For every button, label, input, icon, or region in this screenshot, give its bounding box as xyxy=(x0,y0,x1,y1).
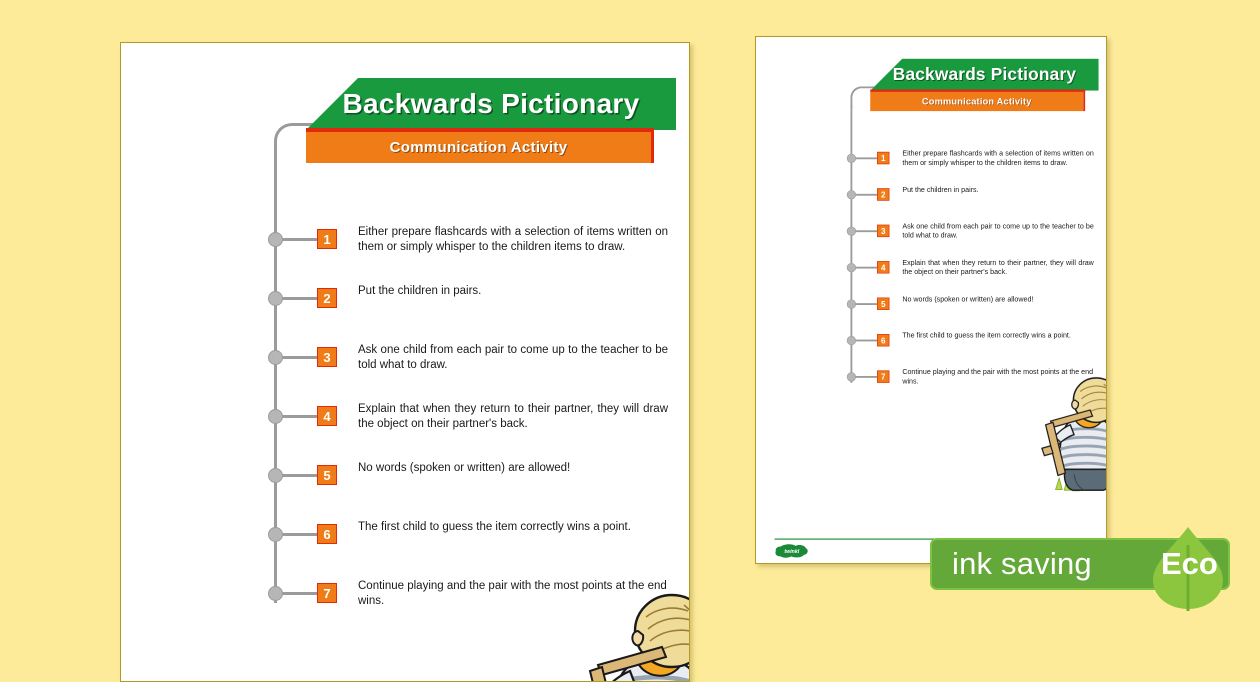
timeline-connector xyxy=(855,340,877,342)
timeline-connector xyxy=(282,415,318,418)
eco-label: ink saving xyxy=(952,538,1092,590)
step-text: The first child to guess the item correc… xyxy=(902,332,1093,341)
step-text: Either prepare flashcards with a selecti… xyxy=(902,149,1093,167)
step-number-badge: 5 xyxy=(317,465,337,485)
banner-red-accent-right xyxy=(651,128,654,163)
step-number-badge: 3 xyxy=(317,347,337,367)
worksheet-document-preview: Backwards Pictionary Communication Activ… xyxy=(756,37,1107,432)
timeline-dot xyxy=(268,586,283,601)
list-item: 5 No words (spoken or written) are allow… xyxy=(121,429,690,488)
list-item: 4 Explain that when they return to their… xyxy=(121,370,690,429)
steps-list: 1 Either prepare flashcards with a selec… xyxy=(756,130,1107,385)
step-text: Ask one child from each pair to come up … xyxy=(902,222,1093,240)
timeline-connector xyxy=(855,267,877,269)
twinkl-logo[interactable]: twinkl xyxy=(775,543,810,559)
worksheet-page-large[interactable]: Backwards Pictionary Communication Activ… xyxy=(120,42,690,682)
step-number-badge: 4 xyxy=(877,261,889,273)
timeline-connector xyxy=(855,230,877,232)
svg-text:twinkl: twinkl xyxy=(784,549,799,555)
timeline-connector xyxy=(282,238,318,241)
timeline-connector xyxy=(282,533,318,536)
timeline-connector xyxy=(855,194,877,196)
step-text: Put the children in pairs. xyxy=(902,186,1093,195)
timeline-dot xyxy=(268,468,283,483)
timeline-connector xyxy=(282,356,318,359)
step-number-badge: 1 xyxy=(317,229,337,249)
step-number-badge: 6 xyxy=(317,524,337,544)
banner-red-accent-right xyxy=(1083,89,1085,111)
list-item: 6 The first child to guess the item corr… xyxy=(121,488,690,547)
step-number-badge: 7 xyxy=(877,370,889,382)
page-subtitle: Communication Activity xyxy=(870,92,1083,111)
timeline-dot xyxy=(268,527,283,542)
page-subtitle: Communication Activity xyxy=(306,132,651,163)
steps-list: 1 Either prepare flashcards with a selec… xyxy=(121,193,690,606)
step-text: Either prepare flashcards with a selecti… xyxy=(358,225,668,254)
step-number-badge: 1 xyxy=(877,152,889,164)
step-text: Explain that when they return to their p… xyxy=(358,402,668,431)
header-banner-group: Backwards Pictionary Communication Activ… xyxy=(306,78,676,163)
list-item: 5 No words (spoken or written) are allow… xyxy=(756,275,1107,311)
boy-drawing-illustration xyxy=(1037,375,1107,499)
timeline-elbow xyxy=(274,123,308,157)
eco-leaf-label: Eco xyxy=(1161,538,1217,590)
step-text: Put the children in pairs. xyxy=(358,284,668,299)
timeline-dot xyxy=(268,232,283,247)
timeline-dot xyxy=(268,409,283,424)
boy-drawing-illustration xyxy=(576,591,690,682)
list-item: 1 Either prepare flashcards with a selec… xyxy=(121,193,690,252)
step-number-badge: 4 xyxy=(317,406,337,426)
step-number-badge: 3 xyxy=(877,225,889,237)
list-item: 3 Ask one child from each pair to come u… xyxy=(756,202,1107,238)
subtitle-banner-wrap: Communication Activity xyxy=(870,92,1083,111)
step-text: Explain that when they return to their p… xyxy=(902,259,1093,277)
timeline-connector xyxy=(282,592,318,595)
page-title: Backwards Pictionary xyxy=(870,59,1098,91)
worksheet-page-small[interactable]: Backwards Pictionary Communication Activ… xyxy=(755,36,1107,564)
step-text: The first child to guess the item correc… xyxy=(358,520,668,535)
timeline-dot xyxy=(268,291,283,306)
step-number-badge: 2 xyxy=(317,288,337,308)
step-text: No words (spoken or written) are allowed… xyxy=(358,461,668,476)
step-text: No words (spoken or written) are allowed… xyxy=(902,295,1093,304)
list-item: 4 Explain that when they return to their… xyxy=(756,239,1107,275)
step-text: Ask one child from each pair to come up … xyxy=(358,343,668,372)
timeline-connector xyxy=(855,376,877,378)
timeline-connector xyxy=(855,157,877,159)
timeline-connector xyxy=(855,303,877,305)
ink-saving-eco-badge: ink saving Eco xyxy=(930,533,1260,595)
page-title: Backwards Pictionary xyxy=(306,78,676,130)
step-number-badge: 5 xyxy=(877,298,889,310)
step-number-badge: 7 xyxy=(317,583,337,603)
step-number-badge: 6 xyxy=(877,334,889,346)
timeline-dot xyxy=(268,350,283,365)
timeline-elbow xyxy=(850,86,871,107)
list-item: 3 Ask one child from each pair to come u… xyxy=(121,311,690,370)
timeline-connector xyxy=(282,474,318,477)
worksheet-document: Backwards Pictionary Communication Activ… xyxy=(121,43,690,682)
list-item: 1 Either prepare flashcards with a selec… xyxy=(756,130,1107,166)
list-item: 2 Put the children in pairs. xyxy=(121,252,690,311)
list-item: 6 The first child to guess the item corr… xyxy=(756,312,1107,348)
subtitle-banner-wrap: Communication Activity xyxy=(306,132,651,163)
timeline-connector xyxy=(282,297,318,300)
step-number-badge: 2 xyxy=(877,188,889,200)
list-item: 2 Put the children in pairs. xyxy=(756,166,1107,202)
header-banner-group: Backwards Pictionary Communication Activ… xyxy=(870,59,1098,111)
